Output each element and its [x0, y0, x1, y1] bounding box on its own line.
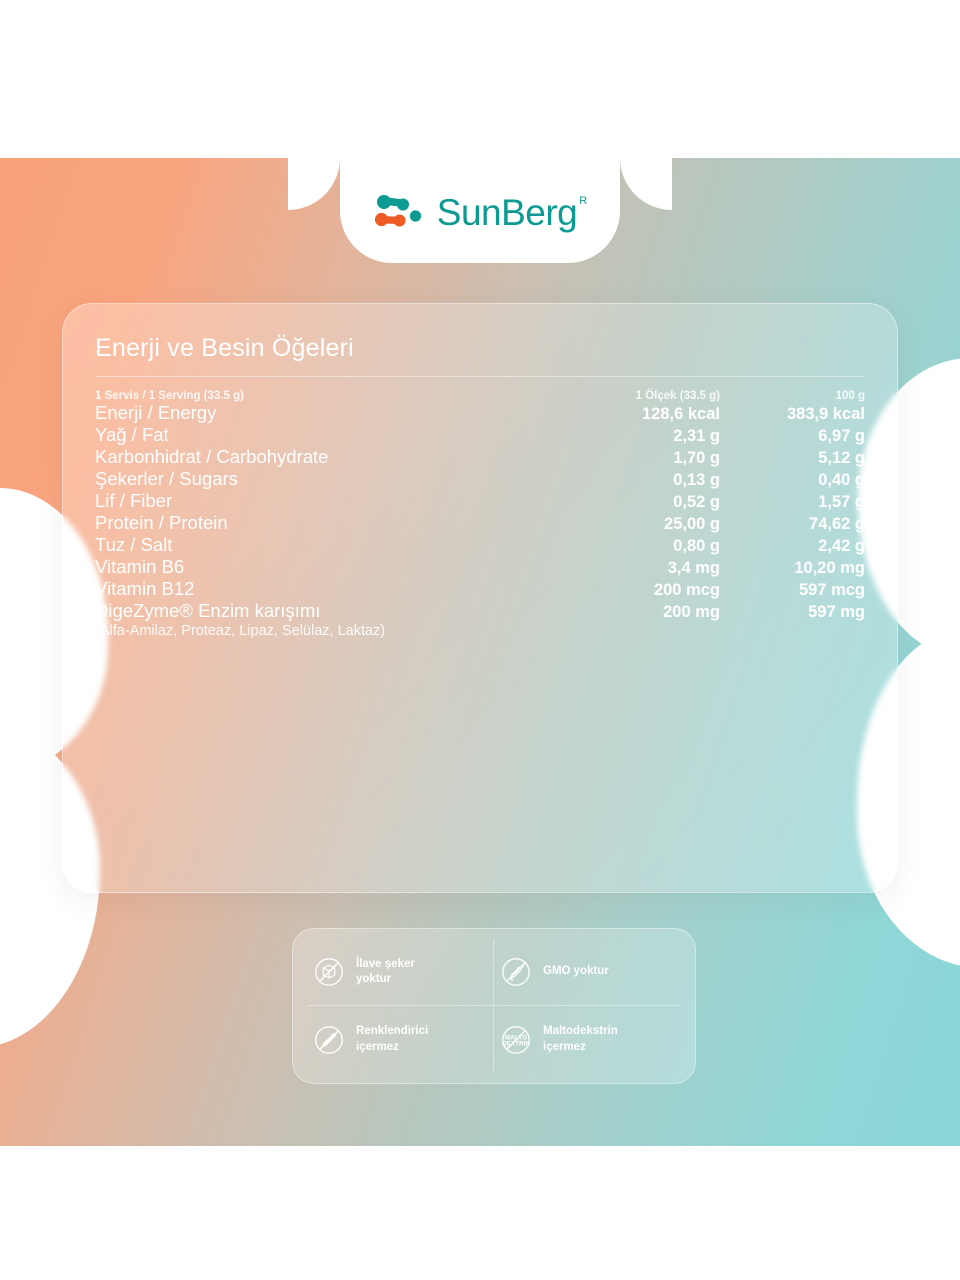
nutrient-label: Yağ / Fat	[95, 424, 570, 446]
brand-name: SunBerg	[437, 192, 578, 233]
sunberg-molecule-logo-icon	[375, 191, 427, 231]
badge-label: GMO yoktur	[543, 964, 609, 979]
badge-label: İlave şeker yoktur	[356, 957, 415, 987]
table-header-row: 1 Servis / 1 Serving (33.5 g) 1 Ölçek (3…	[95, 390, 865, 402]
table-row: Yağ / Fat 2,31 g 6,97 g	[95, 424, 865, 446]
title-divider	[95, 376, 865, 377]
enzyme-sublist: (Alfa-Amilaz, Proteaz, Lipaz, Selülaz, L…	[95, 622, 570, 641]
logo-tab-fillet-right	[620, 158, 672, 210]
product-claims-card: İlave şeker yoktur GMO yoktur	[292, 928, 696, 1084]
column-header-per-serving: 1 Ölçek (33.5 g)	[570, 390, 720, 402]
nutrition-facts-card: Enerji ve Besin Öğeleri 1 Servis / 1 Ser…	[62, 303, 898, 893]
table-row: Şekerler / Sugars 0,13 g 0,40 g	[95, 468, 865, 490]
nutrient-value-per-serving: 2,31 g	[570, 424, 720, 446]
nutrient-value-per-100g: 10,20 mg	[720, 556, 865, 578]
nutrient-label: Karbonhidrat / Carbohydrate	[95, 446, 570, 468]
table-row: Tuz / Salt 0,80 g 2,42 g	[95, 534, 865, 556]
brand-wordmark: SunBergR	[437, 193, 585, 230]
nutrient-label: Protein / Protein	[95, 512, 570, 534]
nutrient-label: Vitamin B12	[95, 578, 570, 600]
nutrient-label: Vitamin B6	[95, 556, 570, 578]
nutrient-value-per-100g: 383,9 kcal	[720, 402, 865, 424]
badge-label: Renklendirici içermez	[356, 1024, 428, 1054]
nutrient-value-per-serving: 0,80 g	[570, 534, 720, 556]
nutrient-value-per-serving: 1,70 g	[570, 446, 720, 468]
maltodextrin-text-line2: DEXTRIN	[502, 1040, 530, 1047]
brand-logo: SunBergR	[340, 158, 620, 264]
nutrient-value-per-serving: 3,4 mg	[570, 556, 720, 578]
nutrient-value-per-100g: 74,62 g	[720, 512, 865, 534]
no-gmo-icon	[500, 956, 532, 988]
badge-no-maltodextrin: MALTO DEXTRIN Maltodekstrin içermez	[494, 1006, 681, 1073]
badge-no-gmo: GMO yoktur	[494, 939, 681, 1006]
table-row: Vitamin B12 200 mcg 597 mcg	[95, 578, 865, 600]
nutrient-value-per-serving: 128,6 kcal	[570, 402, 720, 424]
table-row: Lif / Fiber 0,52 g 1,57 g	[95, 490, 865, 512]
serving-note: 1 Servis / 1 Serving (33.5 g)	[95, 390, 570, 402]
nutrient-value-per-100g: 1,57 g	[720, 490, 865, 512]
badge-no-colorant: Renklendirici içermez	[307, 1006, 494, 1073]
nutrient-label: Enerji / Energy	[95, 402, 570, 424]
nutrient-value-per-100g: 5,12 g	[720, 446, 865, 468]
no-added-sugar-icon	[313, 956, 345, 988]
table-row: Protein / Protein 25,00 g 74,62 g	[95, 512, 865, 534]
nutrient-value-per-100g: 6,97 g	[720, 424, 865, 446]
table-row: Enerji / Energy 128,6 kcal 383,9 kcal	[95, 402, 865, 424]
nutrient-label: Tuz / Salt	[95, 534, 570, 556]
logo-tab-fillet-left	[288, 158, 340, 210]
nutrient-value-per-100g: 0,40 g	[720, 468, 865, 490]
nutrition-label-page: SunBergR Enerji ve Besin Öğeleri 1 Servi…	[0, 0, 960, 1280]
column-header-per-100g: 100 g	[720, 390, 865, 402]
badge-label: Maltodekstrin içermez	[543, 1024, 618, 1054]
table-row: Karbonhidrat / Carbohydrate 1,70 g 5,12 …	[95, 446, 865, 468]
enzyme-value-per-serving: 200 mg	[570, 600, 720, 622]
nutrient-value-per-serving: 25,00 g	[570, 512, 720, 534]
no-maltodextrin-icon: MALTO DEXTRIN	[500, 1024, 532, 1056]
table-row: Vitamin B6 3,4 mg 10,20 mg	[95, 556, 865, 578]
nutrient-value-per-100g: 2,42 g	[720, 534, 865, 556]
nutrient-value-per-serving: 200 mcg	[570, 578, 720, 600]
nutrient-label: Lif / Fiber	[95, 490, 570, 512]
registered-mark: R	[579, 195, 587, 207]
page-title: Enerji ve Besin Öğeleri	[95, 334, 865, 363]
enzyme-value-per-100g: 597 mg	[720, 600, 865, 622]
table-row-enzyme: DigeZyme® Enzim karışımı 200 mg 597 mg	[95, 600, 865, 622]
enzyme-label: DigeZyme® Enzim karışımı	[95, 600, 570, 622]
nutrient-value-per-serving: 0,52 g	[570, 490, 720, 512]
nutrient-value-per-serving: 0,13 g	[570, 468, 720, 490]
nutrient-value-per-100g: 597 mcg	[720, 578, 865, 600]
nutrition-table: 1 Servis / 1 Serving (33.5 g) 1 Ölçek (3…	[95, 390, 865, 641]
no-colorant-icon	[313, 1024, 345, 1056]
table-row-enzyme-sublist: (Alfa-Amilaz, Proteaz, Lipaz, Selülaz, L…	[95, 622, 865, 641]
badge-no-added-sugar: İlave şeker yoktur	[307, 939, 494, 1006]
nutrient-label: Şekerler / Sugars	[95, 468, 570, 490]
